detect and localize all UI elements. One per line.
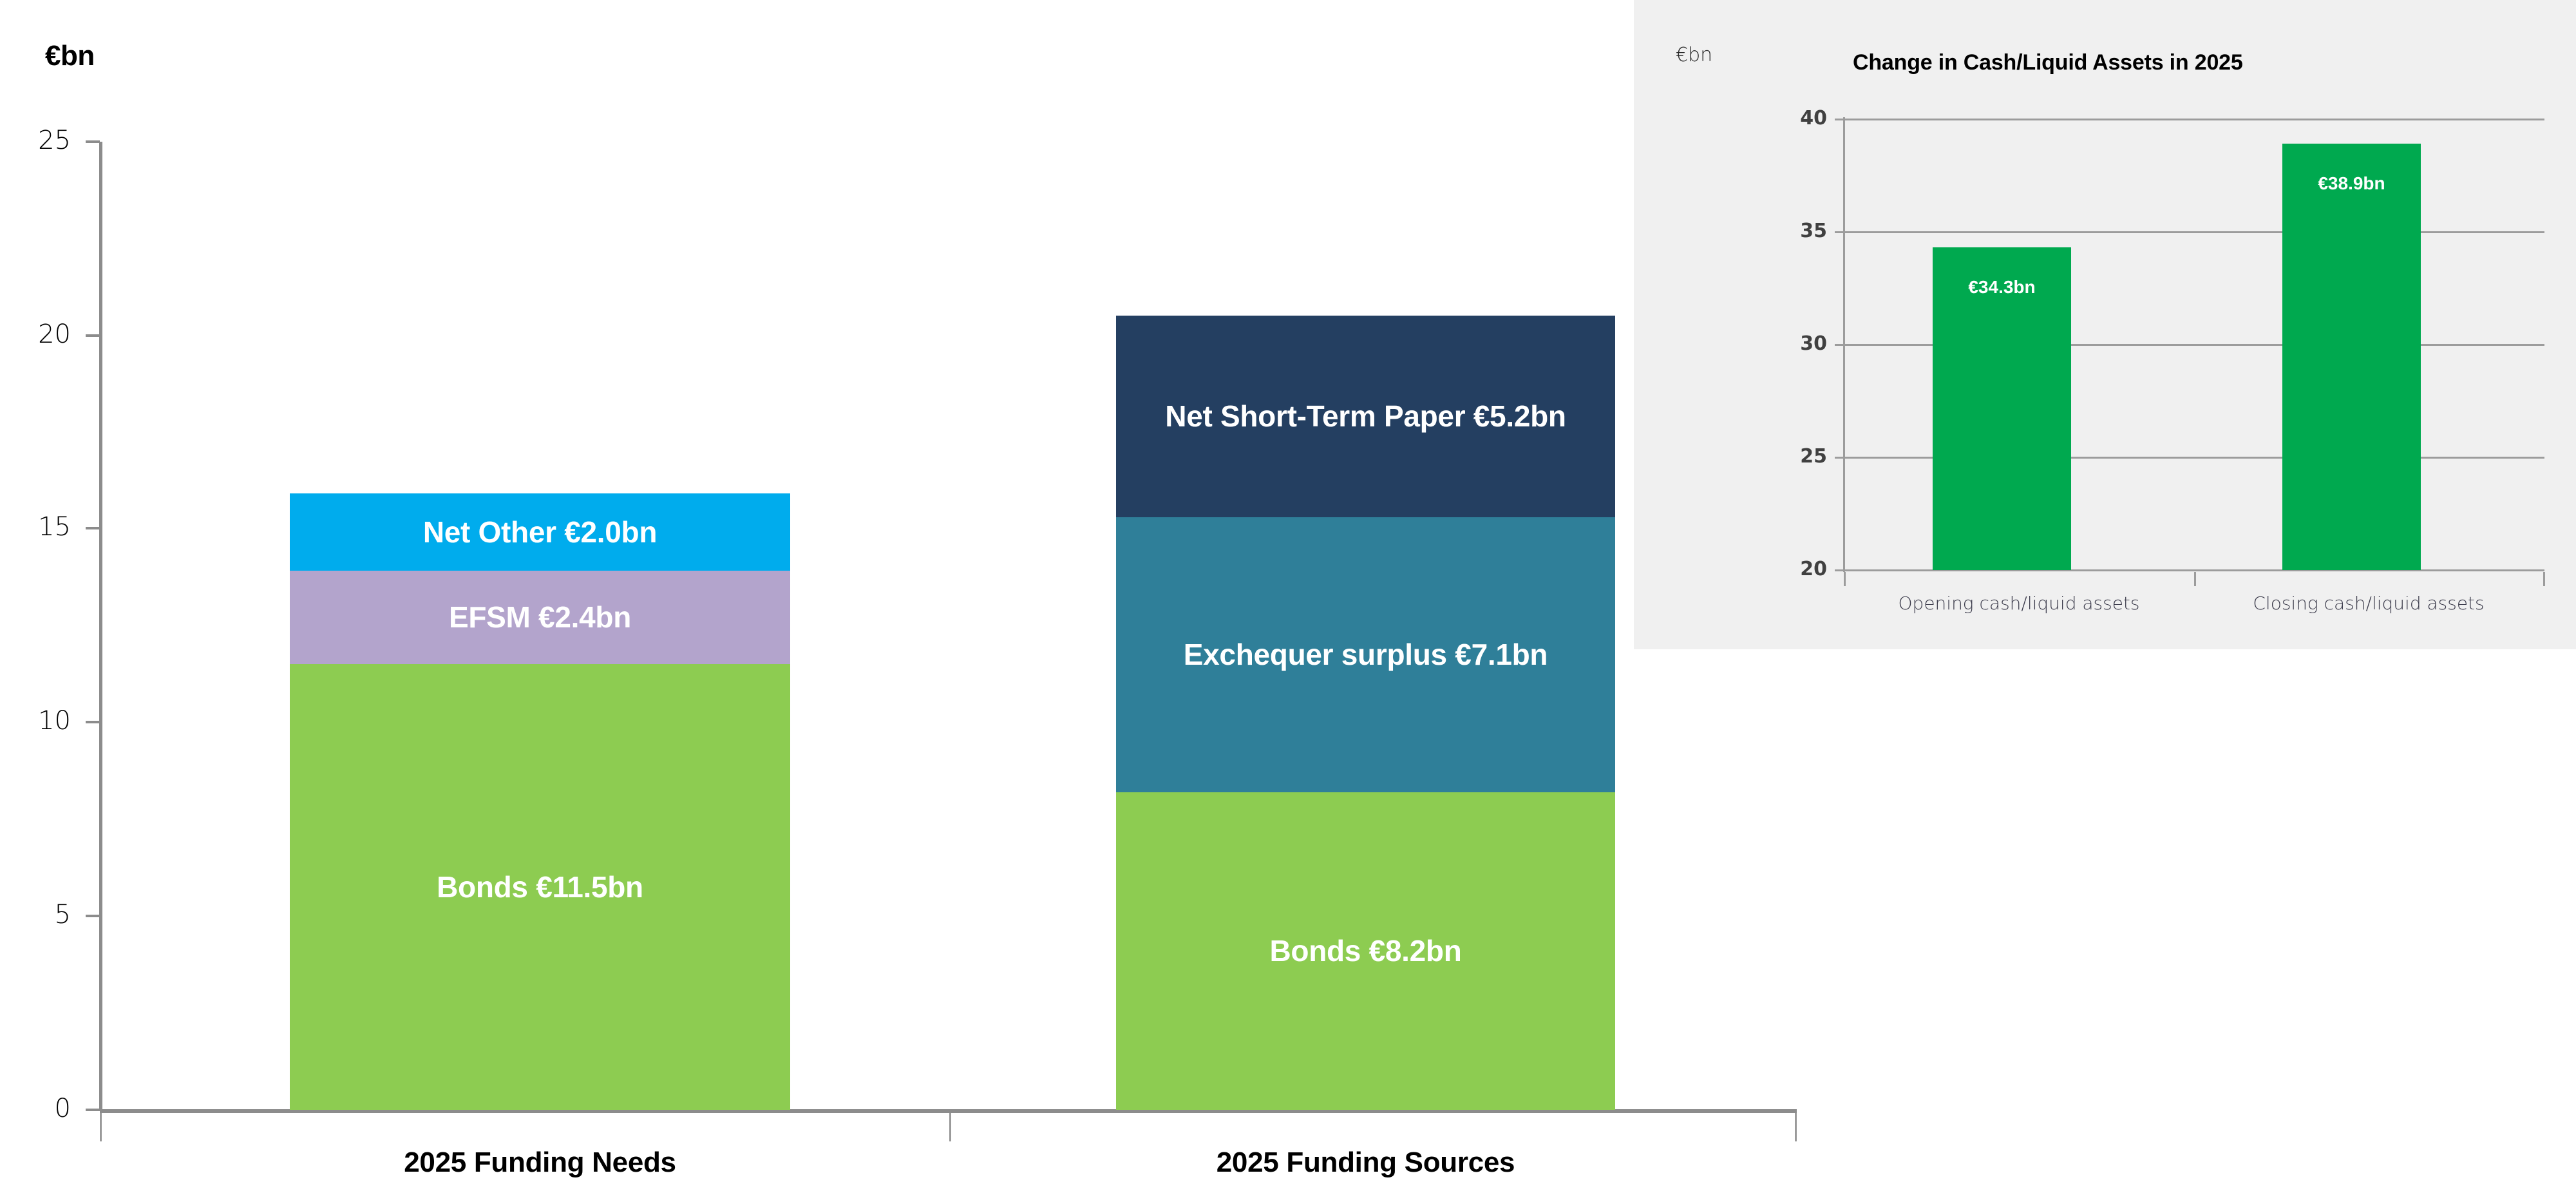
bar-segment-bonds-needs[interactable]: Bonds €11.5bn — [290, 664, 790, 1110]
stacked-bar-funding-needs[interactable]: Net Other €2.0bn EFSM €2.4bn Bonds €11.5… — [290, 493, 790, 1110]
chart-page: €bn 0 5 10 15 20 25 Net Other €2.0bn EFS… — [0, 0, 2576, 1191]
inset-y-tick-label-25: 25 — [1743, 445, 1827, 468]
main-x-tick-mark-middle — [949, 1113, 951, 1141]
inset-bar-closing-cash-value: €38.9bn — [2282, 173, 2421, 194]
main-y-tick-label-5: 5 — [0, 900, 71, 929]
inset-chart-panel: €bn Change in Cash/Liquid Assets in 2025… — [1634, 0, 2576, 649]
inset-y-tick-mark-20 — [1835, 569, 1845, 571]
main-axis-unit-label: €bn — [45, 40, 95, 72]
main-y-tick-label-10: 10 — [0, 706, 71, 736]
main-x-tick-mark-end — [1795, 1113, 1797, 1141]
inset-y-tick-label-40: 40 — [1743, 107, 1827, 129]
inset-y-tick-mark-40 — [1835, 119, 1845, 120]
main-y-tick-label-15: 15 — [0, 512, 71, 542]
inset-y-tick-mark-30 — [1835, 344, 1845, 346]
bar-segment-bonds-sources[interactable]: Bonds €8.2bn — [1116, 792, 1615, 1110]
inset-bar-closing-cash[interactable]: €38.9bn — [2282, 144, 2421, 570]
category-label-funding-needs: 2025 Funding Needs — [290, 1147, 790, 1179]
inset-gridline-35 — [1844, 231, 2544, 233]
bar-segment-bonds-sources-label: Bonds €8.2bn — [1269, 934, 1461, 968]
inset-bar-opening-cash[interactable]: €34.3bn — [1933, 247, 2071, 570]
main-stacked-bar-chart: €bn 0 5 10 15 20 25 Net Other €2.0bn EFS… — [0, 0, 1803, 1191]
bar-segment-bonds-needs-label: Bonds €11.5bn — [437, 870, 643, 904]
main-x-tick-mark-start — [100, 1113, 102, 1141]
main-y-tick-mark-15 — [86, 527, 100, 529]
inset-y-tick-mark-35 — [1835, 231, 1845, 233]
bar-segment-efsm[interactable]: EFSM €2.4bn — [290, 571, 790, 664]
bar-segment-exchequer-surplus-label: Exchequer surplus €7.1bn — [1184, 638, 1548, 672]
inset-y-tick-mark-25 — [1835, 457, 1845, 459]
inset-bar-opening-cash-value: €34.3bn — [1933, 277, 2071, 298]
category-label-funding-sources: 2025 Funding Sources — [1116, 1147, 1615, 1179]
stacked-bar-funding-sources[interactable]: Net Short-Term Paper €5.2bn Exchequer su… — [1116, 316, 1615, 1110]
bar-segment-net-short-term-paper-label: Net Short-Term Paper €5.2bn — [1165, 399, 1566, 434]
bar-segment-exchequer-surplus[interactable]: Exchequer surplus €7.1bn — [1116, 517, 1615, 792]
inset-gridline-40 — [1844, 119, 2544, 120]
main-y-tick-label-0: 0 — [0, 1094, 71, 1123]
bar-segment-net-other-label: Net Other €2.0bn — [423, 515, 657, 549]
bar-segment-net-short-term-paper[interactable]: Net Short-Term Paper €5.2bn — [1116, 316, 1615, 517]
bar-segment-net-other[interactable]: Net Other €2.0bn — [290, 493, 790, 571]
inset-axis-unit-label: €bn — [1676, 44, 1712, 66]
main-y-tick-label-20: 20 — [0, 319, 71, 349]
inset-y-tick-label-30: 30 — [1743, 332, 1827, 355]
inset-category-label-opening: Opening cash/liquid assets — [1844, 593, 2194, 614]
inset-chart-title: Change in Cash/Liquid Assets in 2025 — [1853, 50, 2243, 75]
main-y-tick-mark-25 — [86, 140, 100, 143]
inset-x-tick-mark-start — [1844, 572, 1846, 586]
inset-category-label-closing: Closing cash/liquid assets — [2194, 593, 2543, 614]
main-y-tick-mark-0 — [86, 1109, 100, 1111]
main-y-tick-mark-5 — [86, 915, 100, 917]
main-y-axis-line — [99, 142, 102, 1111]
main-y-tick-label-25: 25 — [0, 126, 71, 155]
main-y-tick-mark-10 — [86, 721, 100, 723]
inset-x-tick-mark-middle — [2194, 572, 2196, 586]
inset-x-tick-mark-end — [2543, 572, 2545, 586]
main-y-tick-mark-20 — [86, 334, 100, 337]
bar-segment-efsm-label: EFSM €2.4bn — [449, 600, 631, 634]
inset-y-tick-label-35: 35 — [1743, 220, 1827, 242]
inset-y-tick-label-20: 20 — [1743, 558, 1827, 580]
